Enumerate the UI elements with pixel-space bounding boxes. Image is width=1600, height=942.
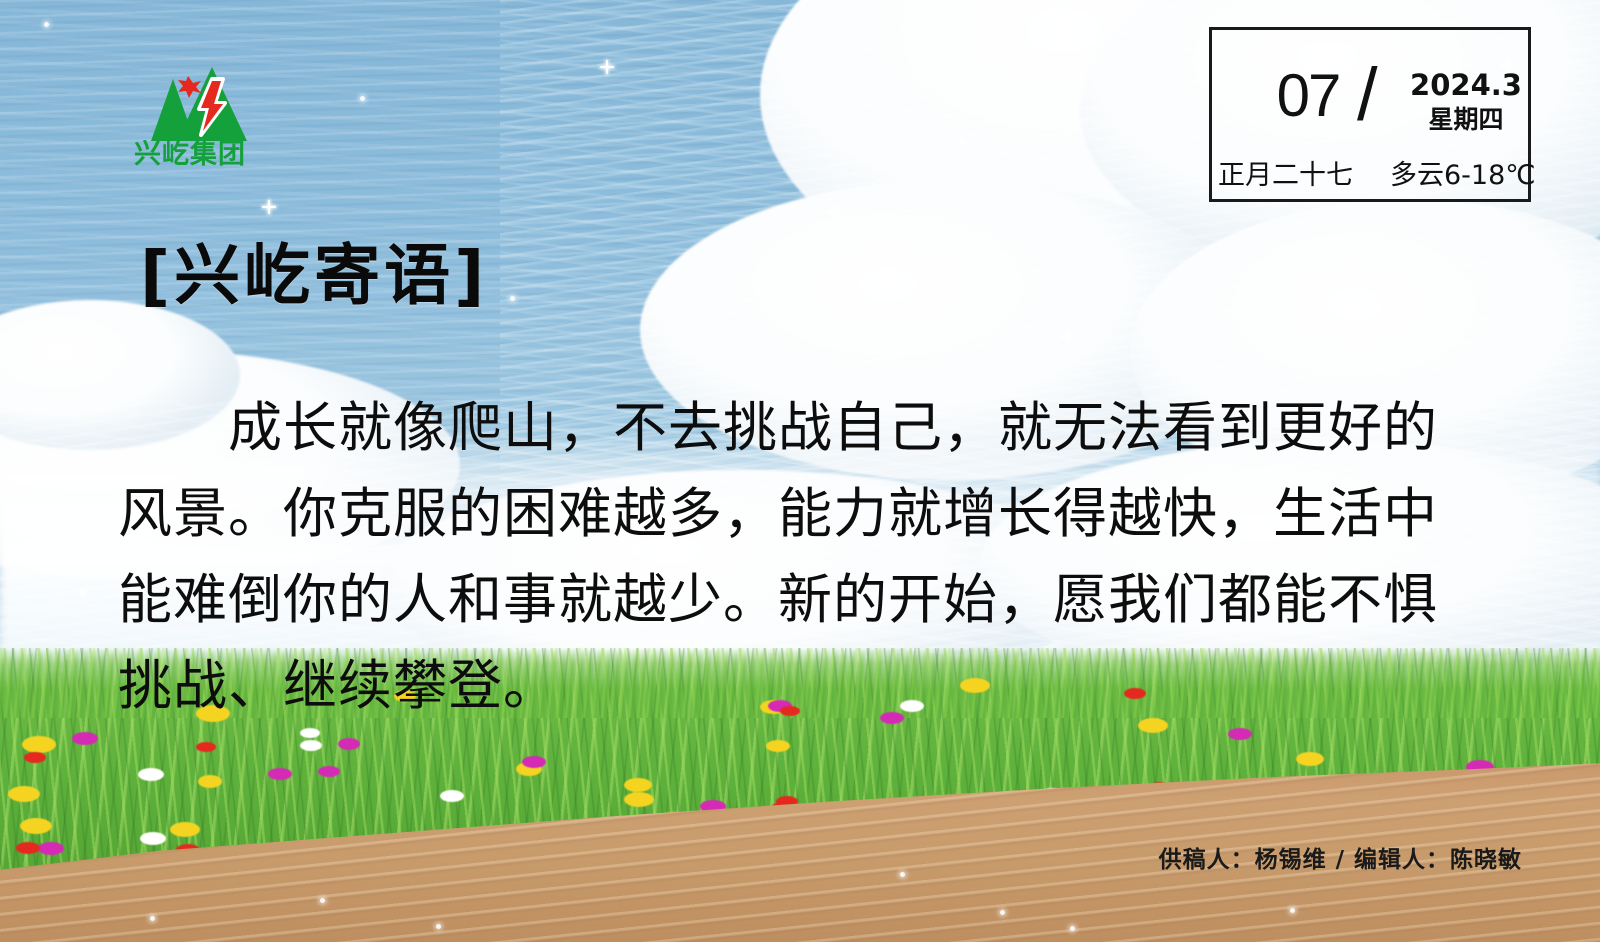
sky-speck: [960, 140, 965, 145]
flower-yellow: [22, 736, 56, 753]
message-body: 成长就像爬山，不去挑战自己，就无法看到更好的 风景。你克服的困难越多，能力就增长…: [118, 385, 1483, 729]
flower-red: [24, 752, 46, 763]
flower-yellow: [198, 775, 222, 788]
date-weekday: 星期四: [1402, 106, 1530, 134]
credits-line: 供稿人：杨锡维 / 编辑人：陈晓敏: [1159, 840, 1522, 874]
date-separator: /: [1357, 58, 1378, 132]
page-title: [兴屹寄语]: [140, 243, 488, 309]
flower-yellow: [766, 740, 790, 752]
flower-yellow: [20, 818, 52, 834]
logo-wordmark: 兴屹集团: [115, 141, 265, 168]
flower-white: [300, 740, 322, 751]
body-line: 风景。你克服的困难越多，能力就增长得越快，生活中: [118, 471, 1483, 557]
flower-red: [196, 742, 216, 752]
flower-white: [440, 790, 464, 802]
sky-speck: [510, 296, 515, 301]
flower-magenta: [268, 768, 292, 780]
flower-magenta: [338, 738, 360, 750]
flower-yellow: [624, 778, 652, 792]
path-speck: [1290, 908, 1295, 913]
flower-magenta: [1228, 728, 1252, 740]
logo-mountains-icon: [115, 55, 265, 147]
flower-magenta: [38, 842, 64, 855]
flower-white: [140, 832, 166, 845]
path-speck: [900, 872, 905, 877]
path-speck: [1000, 910, 1005, 915]
logo-star-icon: [178, 76, 201, 98]
flower-white: [138, 768, 164, 781]
sky-speck: [360, 96, 365, 101]
date-card: 07 / 2024.3 星期四 正月二十七 多云6-18℃: [1209, 27, 1531, 202]
flower-magenta: [72, 732, 98, 745]
path-speck: [436, 924, 441, 929]
path-speck: [150, 916, 155, 921]
sky-speck: [80, 590, 85, 595]
body-line: 能难倒你的人和事就越少。新的开始，愿我们都能不惧: [118, 557, 1483, 643]
date-year-month: 2024.3: [1402, 70, 1530, 102]
weather-info: 多云6-18℃: [1390, 153, 1536, 192]
flower-red: [16, 842, 40, 854]
sky-speck: [44, 22, 49, 27]
path-speck: [1070, 926, 1075, 931]
brand-logo[interactable]: 兴屹集团: [115, 55, 265, 180]
flower-yellow: [8, 786, 40, 802]
body-line: 挑战、继续攀登。: [118, 643, 1483, 729]
flower-magenta: [522, 756, 546, 768]
flower-yellow: [1296, 752, 1324, 766]
date-lunar: 正月二十七: [1218, 153, 1353, 192]
sky-speck: [1120, 30, 1125, 35]
flower-white: [300, 728, 320, 738]
body-line: 成长就像爬山，不去挑战自己，就无法看到更好的: [118, 385, 1483, 471]
flower-yellow: [170, 822, 200, 837]
flower-yellow: [624, 792, 654, 807]
poster-canvas: 兴屹集团 07 / 2024.3 星期四 正月二十七 多云6-18℃ [兴屹寄语…: [0, 0, 1600, 942]
sky-speck: [1420, 250, 1425, 255]
flower-magenta: [318, 766, 340, 777]
path-speck: [320, 898, 325, 903]
